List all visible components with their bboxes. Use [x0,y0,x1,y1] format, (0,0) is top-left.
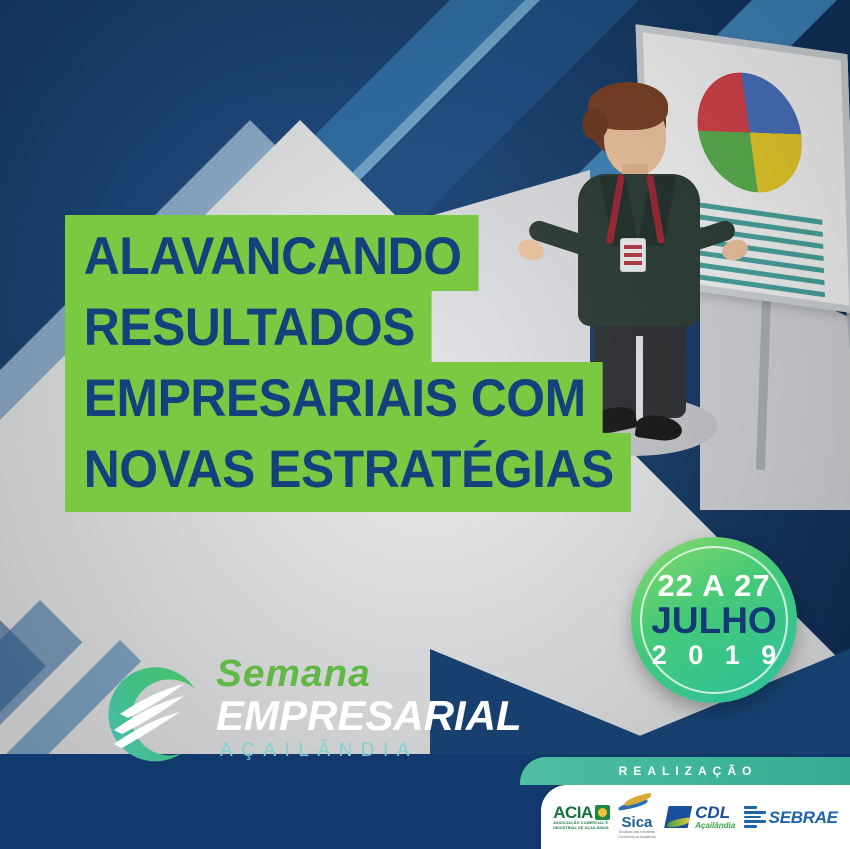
acia-sun-icon [595,805,610,820]
sponsor-acia-sub2: INDUSTRIAL DE AÇAILÂNDIA [553,826,610,831]
sponsor-sebrae[interactable]: SEBRAE [744,806,838,828]
event-logo-text: Semana EMPRESARIAL AÇAILÂNDIA [216,654,522,764]
headline-line-1: ALAVANCANDO [65,215,478,291]
headline-line-4: NOVAS ESTRATÉGIAS [65,433,631,512]
sponsor-sica-title: Sica [618,815,655,830]
date-badge: 22 A 27 JULHO 2 0 1 9 [631,537,797,703]
sponsor-sica[interactable]: Sica Sindicato das Industrias Ceramicas … [618,794,655,839]
sponsor-sica-sub2: Ceramicas de Açailândia [618,835,655,840]
date-month: JULHO [651,602,776,640]
cdl-mark-icon [664,806,692,828]
sponsor-acia[interactable]: ACIA ASSOCIAÇÃO COMERCIAL E INDUSTRIAL D… [553,804,610,831]
date-year: 2 0 1 9 [645,640,784,670]
sebrae-bars-icon [744,806,766,828]
sponsor-acia-sub1: ASSOCIAÇÃO COMERCIAL E [553,821,610,826]
sponsor-sebrae-title: SEBRAE [769,809,838,826]
logo-line-empresarial: EMPRESARIAL [216,694,522,738]
sponsor-cdl[interactable]: CDL Açailândia [664,804,735,830]
headline-block: ALAVANCANDO RESULTADOS EMPRESARIAIS COM … [65,215,667,512]
date-range: 22 A 27 [657,570,770,602]
sponsor-acia-title: ACIA [553,804,593,821]
semana-empresarial-mark [88,652,210,774]
poster-canvas: ALAVANCANDO RESULTADOS EMPRESARIAIS COM … [0,0,850,849]
realizacao-label: REALIZAÇÃO [613,764,758,778]
event-logo: Semana EMPRESARIAL AÇAILÂNDIA [88,648,468,778]
headline-line-2: RESULTADOS [65,291,432,362]
sica-feather-icon [618,794,652,814]
realizacao-bar: REALIZAÇÃO [520,757,850,785]
headline-line-3: EMPRESARIAIS COM [65,362,603,433]
logo-line-semana: Semana [216,654,528,694]
sponsor-strip: ACIA ASSOCIAÇÃO COMERCIAL E INDUSTRIAL D… [541,785,850,849]
sponsor-cdl-title: CDL [695,804,735,821]
logo-line-acailandia: AÇAILÂNDIA [216,738,522,764]
sponsor-cdl-sub1: Açailândia [695,821,735,830]
